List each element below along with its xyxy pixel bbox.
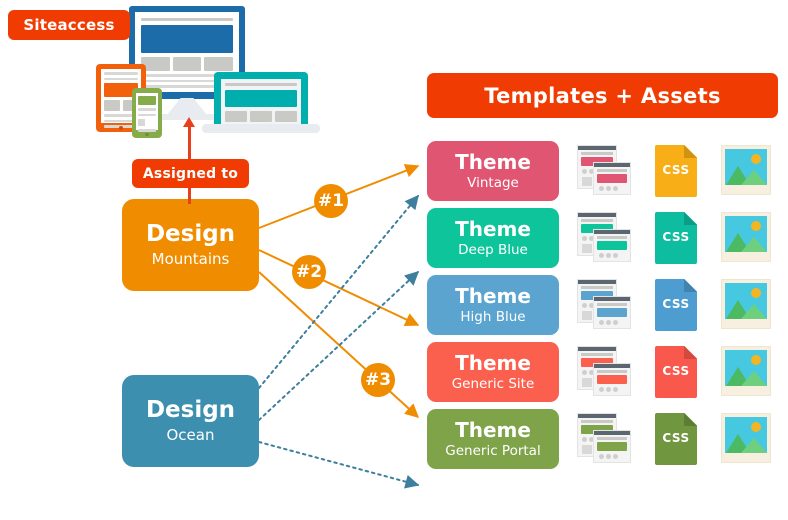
design-box-ocean[interactable]: Design Ocean: [122, 375, 259, 467]
css-file-label: CSS: [655, 297, 697, 311]
laptop-base: [202, 124, 320, 133]
photo-icon[interactable]: [721, 413, 771, 463]
css-file-label: CSS: [655, 163, 697, 177]
css-file-icon[interactable]: CSS: [655, 279, 697, 331]
template-icon[interactable]: [577, 413, 631, 465]
design-title: Design: [146, 398, 235, 422]
theme-title: Theme: [455, 420, 531, 441]
theme-row: ThemeVintageCSS: [427, 141, 778, 201]
laptop-icon: [214, 72, 308, 128]
assigned-to-badge: Assigned to: [132, 159, 249, 188]
design-subtitle: Ocean: [167, 426, 215, 444]
theme-title: Theme: [455, 286, 531, 307]
design-subtitle: Mountains: [152, 250, 230, 268]
css-file-label: CSS: [655, 364, 697, 378]
css-file-icon[interactable]: CSS: [655, 145, 697, 197]
css-file-label: CSS: [655, 431, 697, 445]
design-box-mountains[interactable]: Design Mountains: [122, 199, 259, 291]
connector-label-1: #1: [314, 184, 348, 218]
theme-box[interactable]: ThemeHigh Blue: [427, 275, 559, 335]
theme-row: ThemeDeep BlueCSS: [427, 208, 778, 268]
photo-icon[interactable]: [721, 212, 771, 262]
connector-label-2: #2: [292, 255, 326, 289]
theme-title: Theme: [455, 353, 531, 374]
template-icon[interactable]: [577, 145, 631, 197]
theme-row: ThemeGeneric PortalCSS: [427, 409, 778, 469]
css-file-label: CSS: [655, 230, 697, 244]
siteaccess-badge: Siteaccess: [8, 10, 130, 40]
connector-mountains-high-blue: [259, 250, 418, 325]
template-icon[interactable]: [577, 279, 631, 331]
photo-icon[interactable]: [721, 279, 771, 329]
theme-box[interactable]: ThemeGeneric Site: [427, 342, 559, 402]
theme-row: ThemeHigh BlueCSS: [427, 275, 778, 335]
theme-title: Theme: [455, 152, 531, 173]
templates-assets-header: Templates + Assets: [427, 73, 778, 118]
connector-ocean-generic-portal: [259, 442, 418, 485]
theme-subtitle: Vintage: [467, 175, 519, 191]
theme-subtitle: Generic Portal: [445, 443, 540, 459]
diagram-canvas: #1 #2 #3 Siteaccess Assigned to: [0, 0, 788, 520]
photo-icon[interactable]: [721, 145, 771, 195]
css-file-icon[interactable]: CSS: [655, 212, 697, 264]
connector-label-3: #3: [361, 363, 395, 397]
template-icon[interactable]: [577, 212, 631, 264]
smartphone-icon: [132, 88, 162, 138]
css-file-icon[interactable]: CSS: [655, 413, 697, 465]
monitor-stand: [167, 98, 207, 115]
theme-box[interactable]: ThemeDeep Blue: [427, 208, 559, 268]
template-icon[interactable]: [577, 346, 631, 398]
connector-ocean-vintage: [259, 196, 418, 388]
photo-icon[interactable]: [721, 346, 771, 396]
theme-subtitle: Deep Blue: [458, 242, 528, 258]
theme-subtitle: Generic Site: [452, 376, 535, 392]
theme-row: ThemeGeneric SiteCSS: [427, 342, 778, 402]
design-title: Design: [146, 222, 235, 246]
theme-box[interactable]: ThemeGeneric Portal: [427, 409, 559, 469]
theme-subtitle: High Blue: [460, 309, 525, 325]
theme-box[interactable]: ThemeVintage: [427, 141, 559, 201]
theme-title: Theme: [455, 219, 531, 240]
css-file-icon[interactable]: CSS: [655, 346, 697, 398]
